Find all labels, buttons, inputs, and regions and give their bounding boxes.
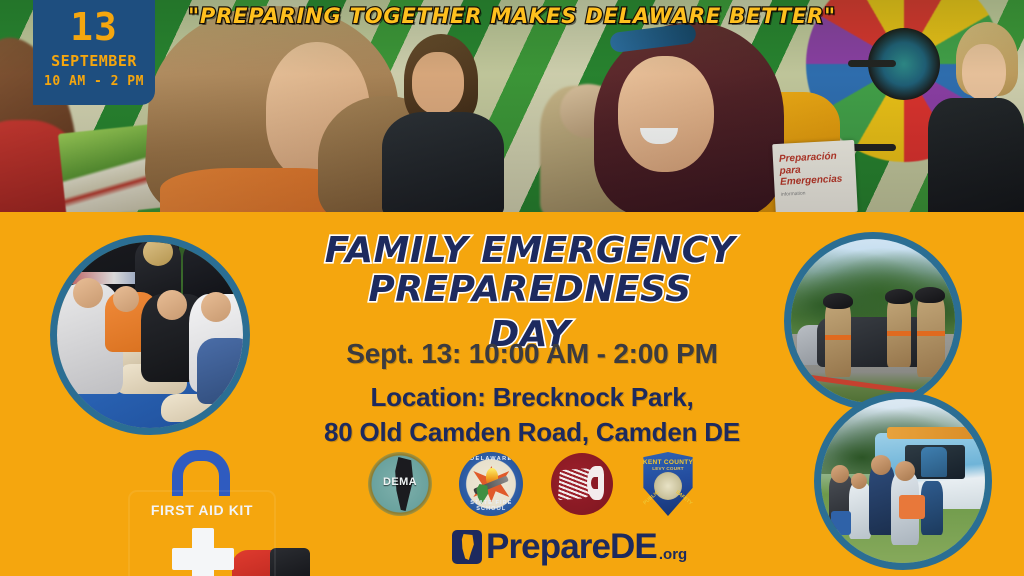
dema-logo: DEMA — [368, 452, 432, 516]
firefighter-helmet-icon — [885, 289, 913, 304]
firefighter-reflective-band — [887, 331, 911, 336]
cpr-training-photo — [50, 235, 250, 435]
dema-logo-label: DEMA — [368, 476, 432, 488]
firefighter-reflective-band — [825, 335, 851, 340]
first-aid-kit-image: FIRST AID KIT — [128, 466, 276, 576]
headline-line-1: FAMILY EMERGENCY PREPAREDNESS — [325, 230, 735, 310]
kent-county-logo: KENT COUNTY LEVY COURT PUBLIC SAFETY — [640, 452, 696, 516]
first-aid-kit-label: FIRST AID KIT — [128, 502, 276, 518]
tagline: "PREPARING TOGETHER MAKES DELAWARE BETTE… — [0, 4, 1024, 28]
truck-awning — [887, 427, 991, 439]
tote-bag — [831, 511, 851, 535]
kent-county-line-2: LEVY COURT — [640, 466, 696, 471]
food-truck-photo — [814, 392, 992, 570]
location-line-1: Location: Brecknock Park, — [232, 380, 832, 415]
crowd-person-head — [871, 455, 891, 475]
crowd-person-head — [831, 465, 849, 483]
preparede-wordmark: PrepareDE — [486, 530, 657, 564]
person-head — [113, 286, 139, 312]
delaware-state-shape-icon — [452, 530, 482, 564]
tote-bag — [899, 495, 925, 519]
date-time-range: 10 AM - 2 PM — [33, 72, 155, 92]
person-head — [73, 278, 103, 308]
crowd-person-head — [895, 461, 915, 481]
partner-logos: DEMA DELAWARE STATE FIRE SCHOOL KENT COU… — [368, 452, 696, 516]
firefighter-reflective-band — [917, 331, 945, 336]
firefighter-helmet-icon — [915, 287, 945, 303]
vehicle-extrication-photo — [784, 232, 962, 410]
fire-school-bottom-text: STATE FIRE SCHOOL — [459, 500, 523, 512]
tribal-logo — [551, 453, 613, 515]
delaware-state-cutout — [461, 534, 475, 560]
person-head — [201, 292, 231, 322]
event-flyer: Preparación para Emergencias information… — [0, 0, 1024, 576]
firefighter-helmet-icon — [823, 293, 853, 309]
tribal-profile-notch — [591, 477, 598, 489]
page-title: FAMILY EMERGENCY PREPAREDNESS DAY — [250, 232, 810, 355]
preparede-tld: .org — [659, 546, 687, 567]
standing-person-hair — [143, 238, 173, 266]
event-location: Location: Brecknock Park, 80 Old Camden … — [232, 380, 832, 450]
preparede-logo[interactable]: PrepareDE .org — [452, 527, 687, 567]
truck-vendor — [921, 447, 947, 477]
fire-school-top-text: DELAWARE — [459, 456, 523, 462]
medical-cross-icon — [172, 548, 234, 570]
black-pouch — [270, 548, 310, 576]
person-head — [157, 290, 187, 320]
participant-denim — [197, 338, 250, 404]
event-datetime: Sept. 13: 10:00 AM - 2:00 PM — [252, 338, 812, 370]
date-month: SEPTEMBER — [33, 50, 155, 72]
firefighter — [917, 295, 945, 377]
crowd-person — [849, 483, 871, 539]
kent-county-line-1: KENT COUNTY — [640, 459, 696, 466]
crowd-person-head — [851, 473, 867, 489]
delaware-state-fire-school-logo: DELAWARE STATE FIRE SCHOOL — [459, 452, 523, 516]
location-line-2: 80 Old Camden Road, Camden DE — [232, 415, 832, 450]
